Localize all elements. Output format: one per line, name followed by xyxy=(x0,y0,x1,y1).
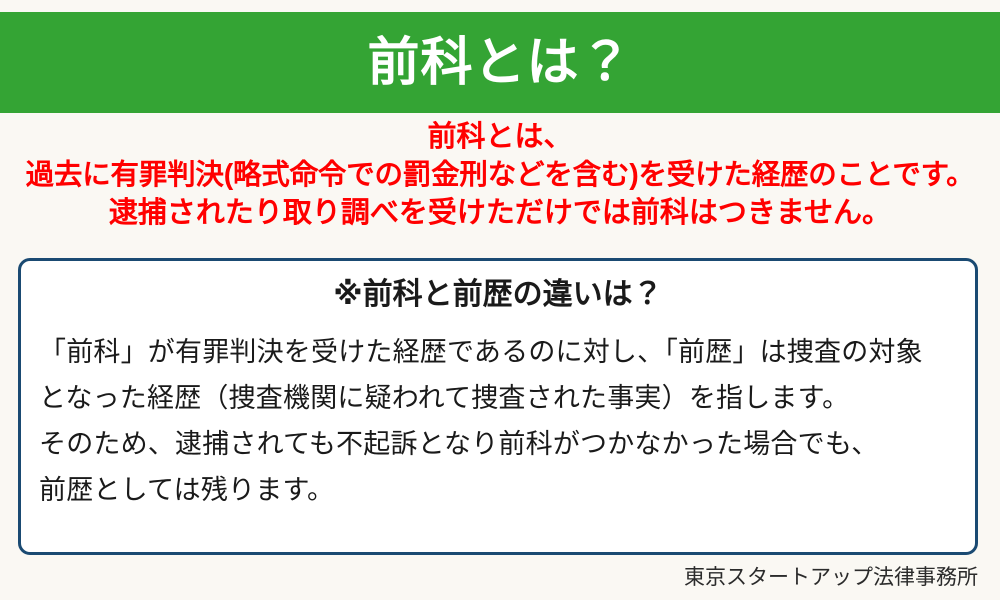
lead-line-1: 前科とは、 xyxy=(0,118,1000,156)
info-box: ※前科と前歴の違いは？ 「前科」が有罪判決を受けた経歴であるのに対し、「前歴」は… xyxy=(18,258,978,555)
info-box-body-line-3: そのため、逮捕されても不起訴となり前科がつかなかった場合でも、 xyxy=(39,421,959,467)
lead-line-3: 逮捕されたり取り調べを受けただけでは前科はつきません。 xyxy=(0,194,1000,232)
info-box-body-line-4: 前歴としては残ります。 xyxy=(39,467,959,513)
lead-paragraph: 前科とは、 過去に有罪判決(略式命令での罰金刑などを含む)を受けた経歴のことです… xyxy=(0,118,1000,232)
page-title: 前科とは？ xyxy=(367,37,632,89)
infographic-root: 前科とは？ 前科とは、 過去に有罪判決(略式命令での罰金刑などを含む)を受けた経… xyxy=(0,0,1000,600)
info-box-title: ※前科と前歴の違いは？ xyxy=(21,277,975,313)
footer-credit: 東京スタートアップ法律事務所 xyxy=(684,565,978,590)
info-box-body: 「前科」が有罪判決を受けた経歴であるのに対し、「前歴」は捜査の対象 となった経歴… xyxy=(21,329,975,513)
info-box-body-line-1: 「前科」が有罪判決を受けた経歴であるのに対し、「前歴」は捜査の対象 xyxy=(39,329,959,375)
lead-line-2: 過去に有罪判決(略式命令での罰金刑などを含む)を受けた経歴のことです。 xyxy=(0,156,1000,194)
header-banner: 前科とは？ xyxy=(0,12,1000,113)
info-box-body-line-2: となった経歴（捜査機関に疑われて捜査された事実）を指します。 xyxy=(39,375,959,421)
